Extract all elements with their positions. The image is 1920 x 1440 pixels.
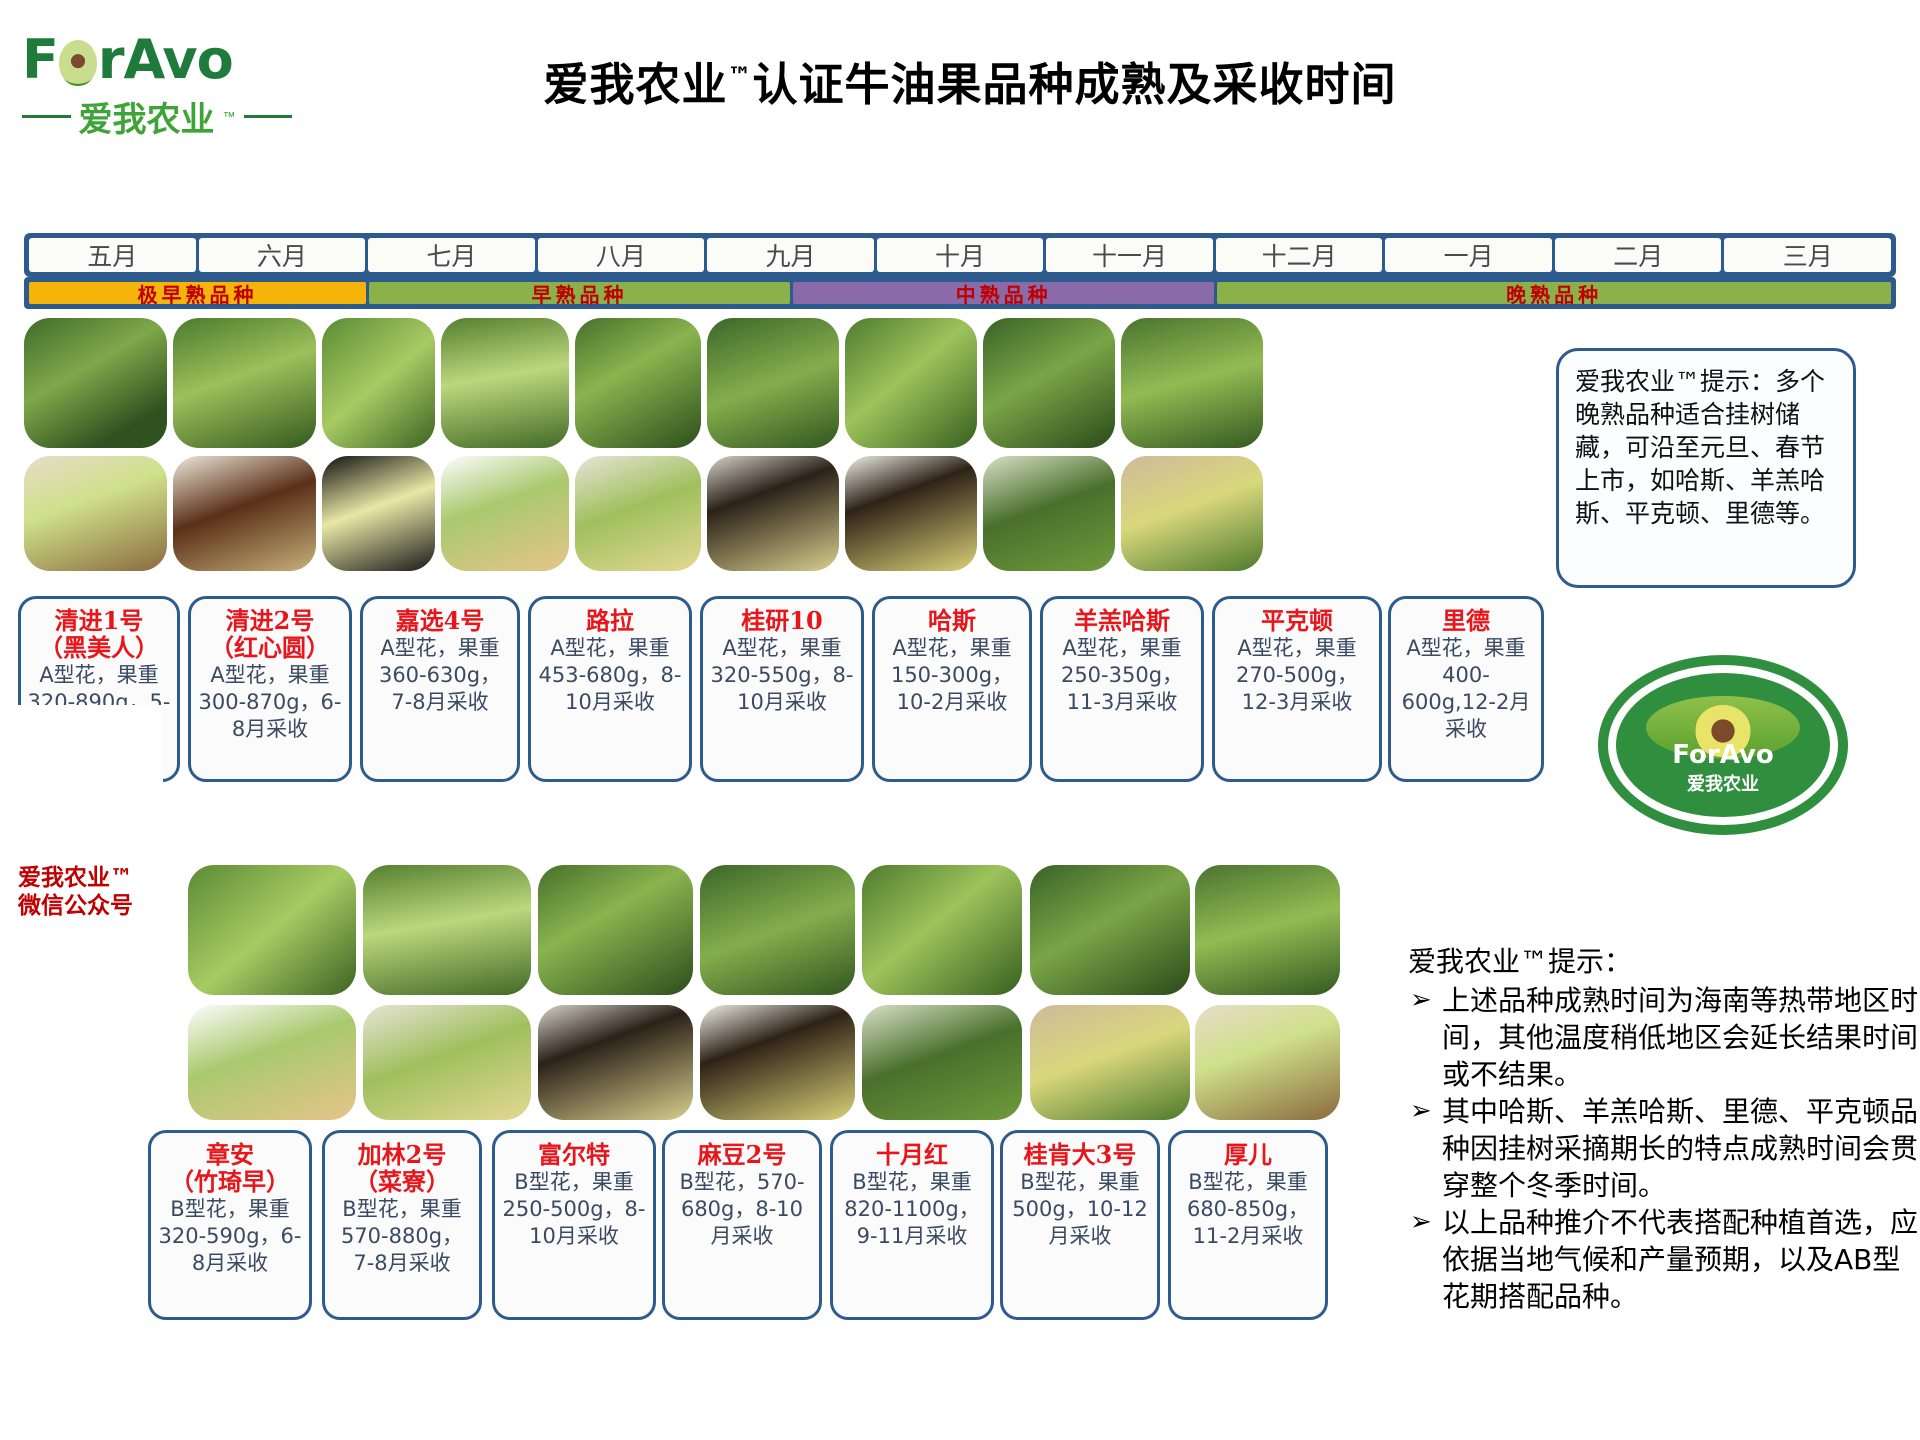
tip-callout-text: 爱我农业™提示：多个晚熟品种适合挂树储藏，可沿至元旦、春节上市，如哈斯、羊羔哈斯… bbox=[1575, 365, 1837, 530]
variety-a-card-5[interactable]: 桂研10A型花，果重320-550g，8-10月采收 bbox=[700, 596, 864, 782]
variety-alias: （菜寮） bbox=[331, 1168, 473, 1195]
variety-details: B型花，果重820-1100g，9-11月采收 bbox=[839, 1169, 985, 1250]
orchard-photo-3 bbox=[322, 318, 435, 448]
notes-title: 爱我农业™提示： bbox=[1408, 940, 1920, 980]
variety-details: B型花，果重500g，10-12月采收 bbox=[1009, 1169, 1151, 1250]
fruit-photo-b7 bbox=[1195, 1005, 1340, 1120]
variety-name: 桂研10 bbox=[709, 607, 855, 634]
variety-details: A型花，果重400-600g,12-2月采收 bbox=[1397, 635, 1535, 743]
orchard-photo-b4 bbox=[700, 865, 855, 995]
variety-details: B型花，570-680g，8-10月采收 bbox=[671, 1169, 813, 1250]
variety-details: B型花，果重320-590g，6-8月采收 bbox=[157, 1196, 303, 1277]
season-band-3: 中熟品种 bbox=[793, 282, 1214, 304]
arrow-bullet-icon: ➢ bbox=[1410, 1204, 1432, 1241]
orchard-photo-b6 bbox=[1030, 865, 1190, 995]
variety-name: 清进1号 bbox=[27, 607, 171, 634]
brand-name-cn: 爱我农业 bbox=[79, 92, 215, 141]
orchard-photo-4 bbox=[441, 318, 569, 448]
variety-b-card-6[interactable]: 桂肯大3号B型花，果重500g，10-12月采收 bbox=[1000, 1130, 1160, 1320]
variety-name: 厚儿 bbox=[1177, 1141, 1319, 1168]
page-title-rest: 认证牛油果品种成熟及采收时间 bbox=[753, 58, 1397, 111]
variety-a-card-2[interactable]: 清进2号（红心圆）A型花，果重300-870g，6-8月采收 bbox=[188, 596, 352, 782]
variety-name: 十月红 bbox=[839, 1141, 985, 1168]
brand-wordmark-rest: rAvo bbox=[98, 28, 233, 91]
wechat-qr-block: 爱我农业™ 微信公众号 bbox=[18, 705, 163, 920]
month-cell-7: 十一月 bbox=[1046, 238, 1213, 272]
page-title: 爱我农业™认证牛油果品种成熟及采收时间 bbox=[430, 48, 1510, 113]
brand-wordmark-f: F bbox=[22, 28, 58, 91]
month-cell-6: 十月 bbox=[877, 238, 1044, 272]
note-item-text: 以上品种推介不代表搭配种植首选，应依据当地气候和产量预期，以及AB型花期搭配品种… bbox=[1442, 1206, 1918, 1313]
variety-name: 嘉选4号 bbox=[369, 607, 511, 634]
qr-caption: 爱我农业™ 微信公众号 bbox=[18, 864, 163, 920]
variety-name: 路拉 bbox=[537, 607, 683, 634]
season-band-2: 早熟品种 bbox=[369, 282, 790, 304]
qr-code-icon[interactable] bbox=[18, 705, 163, 850]
orchard-photo-1 bbox=[24, 318, 167, 448]
variety-b-card-4[interactable]: 麻豆2号B型花，570-680g，8-10月采收 bbox=[662, 1130, 822, 1320]
note-item-text: 其中哈斯、羊羔哈斯、里德、平克顿品种因挂树采摘期长的特点成熟时间会贯穿整个冬季时… bbox=[1442, 1095, 1918, 1202]
variety-details: A型花，果重360-630g，7-8月采收 bbox=[369, 635, 511, 716]
variety-name: 章安 bbox=[157, 1141, 303, 1168]
orchard-photo-8 bbox=[983, 318, 1115, 448]
fruit-photo-b3 bbox=[538, 1005, 693, 1120]
fruit-photo-b1 bbox=[188, 1005, 356, 1120]
notes-panel: 爱我农业™提示： ➢上述品种成熟时间为海南等热带地区时间，其他温度稍低地区会延长… bbox=[1408, 940, 1920, 1315]
orchard-photo-b5 bbox=[862, 865, 1022, 995]
orchard-photo-2 bbox=[173, 318, 316, 448]
variety-a-card-4[interactable]: 路拉A型花，果重453-680g，8-10月采收 bbox=[528, 596, 692, 782]
fruit-photo-6 bbox=[707, 456, 839, 571]
orchard-photo-b2 bbox=[363, 865, 531, 995]
notes-list: ➢上述品种成熟时间为海南等热带地区时间，其他温度稍低地区会延长结果时间或不结果。… bbox=[1408, 982, 1920, 1315]
variety-details: A型花，果重300-870g，6-8月采收 bbox=[197, 662, 343, 743]
month-cell-2: 六月 bbox=[199, 238, 366, 272]
variety-a-card-3[interactable]: 嘉选4号A型花，果重360-630g，7-8月采收 bbox=[360, 596, 520, 782]
fruit-photo-1 bbox=[24, 456, 167, 571]
variety-details: A型花，果重320-550g，8-10月采收 bbox=[709, 635, 855, 716]
variety-a-card-8[interactable]: 平克顿A型花，果重270-500g，12-3月采收 bbox=[1212, 596, 1382, 782]
brand-subtitle: 爱我农业™ bbox=[22, 92, 292, 141]
fruit-photo-7 bbox=[845, 456, 977, 571]
arrow-bullet-icon: ➢ bbox=[1410, 982, 1432, 1019]
season-band-1: 极早熟品种 bbox=[29, 282, 366, 304]
note-item-text: 上述品种成熟时间为海南等热带地区时间，其他温度稍低地区会延长结果时间或不结果。 bbox=[1442, 984, 1918, 1091]
season-strip: 极早熟品种早熟品种中熟品种晚熟品种 bbox=[24, 277, 1896, 309]
seal-outer-ring: ForAvo 爱我农业 bbox=[1598, 655, 1848, 835]
variety-details: B型花，果重250-500g，8-10月采收 bbox=[501, 1169, 647, 1250]
month-cell-11: 三月 bbox=[1724, 238, 1891, 272]
month-strip: 五月六月七月八月九月十月十一月十二月一月二月三月 bbox=[24, 233, 1896, 277]
variety-name: 平克顿 bbox=[1221, 607, 1373, 634]
avocado-icon bbox=[59, 40, 97, 86]
orchard-photo-5 bbox=[575, 318, 701, 448]
month-cell-4: 八月 bbox=[538, 238, 705, 272]
season-band-4: 晚熟品种 bbox=[1217, 282, 1891, 304]
variety-details: B型花，果重680-850g，11-2月采收 bbox=[1177, 1169, 1319, 1250]
variety-b-card-5[interactable]: 十月红B型花，果重820-1100g，9-11月采收 bbox=[830, 1130, 994, 1320]
variety-a-card-7[interactable]: 羊羔哈斯A型花，果重250-350g，11-3月采收 bbox=[1040, 596, 1204, 782]
certification-seal: ForAvo 爱我农业 bbox=[1598, 655, 1848, 835]
trademark-symbol: ™ bbox=[223, 109, 236, 124]
variety-a-card-6[interactable]: 哈斯A型花，果重150-300g，10-2月采收 bbox=[872, 596, 1032, 782]
seal-core: ForAvo 爱我农业 bbox=[1616, 673, 1830, 817]
variety-b-card-1[interactable]: 章安（竹琦早）B型花，果重320-590g，6-8月采收 bbox=[148, 1130, 312, 1320]
variety-b-card-7[interactable]: 厚儿B型花，果重680-850g，11-2月采收 bbox=[1168, 1130, 1328, 1320]
arrow-bullet-icon: ➢ bbox=[1410, 1093, 1432, 1130]
orchard-photo-6 bbox=[707, 318, 839, 448]
variety-name: 富尔特 bbox=[501, 1141, 647, 1168]
variety-name: 桂肯大3号 bbox=[1009, 1141, 1151, 1168]
note-item-2: ➢其中哈斯、羊羔哈斯、里德、平克顿品种因挂树采摘期长的特点成熟时间会贯穿整个冬季… bbox=[1408, 1093, 1920, 1204]
orchard-photo-7 bbox=[845, 318, 977, 448]
variety-name: 加林2号 bbox=[331, 1141, 473, 1168]
fruit-photo-5 bbox=[575, 456, 701, 571]
brand-logo: FrAvo 爱我农业™ bbox=[22, 32, 292, 142]
page-title-tm: ™ bbox=[728, 62, 753, 90]
variety-details: A型花，果重150-300g，10-2月采收 bbox=[881, 635, 1023, 716]
variety-name: 哈斯 bbox=[881, 607, 1023, 634]
variety-details: B型花，果重570-880g，7-8月采收 bbox=[331, 1196, 473, 1277]
seal-name-cn: 爱我农业 bbox=[1687, 770, 1759, 796]
variety-details: A型花，果重453-680g，8-10月采收 bbox=[537, 635, 683, 716]
page-title-brand: 爱我农业 bbox=[543, 58, 727, 111]
divider-left bbox=[22, 115, 71, 118]
orchard-photo-b1 bbox=[188, 865, 356, 995]
note-item-1: ➢上述品种成熟时间为海南等热带地区时间，其他温度稍低地区会延长结果时间或不结果。 bbox=[1408, 982, 1920, 1093]
variety-alias: （红心圆） bbox=[197, 634, 343, 661]
month-cell-5: 九月 bbox=[707, 238, 874, 272]
month-cell-1: 五月 bbox=[29, 238, 196, 272]
fruit-photo-8 bbox=[983, 456, 1115, 571]
brand-wordmark: FrAvo bbox=[22, 32, 292, 88]
tip-callout: 爱我农业™提示：多个晚熟品种适合挂树储藏，可沿至元旦、春节上市，如哈斯、羊羔哈斯… bbox=[1556, 348, 1856, 588]
variety-b-card-2[interactable]: 加林2号（菜寮）B型花，果重570-880g，7-8月采收 bbox=[322, 1130, 482, 1320]
fruit-photo-9 bbox=[1121, 456, 1263, 571]
seal-wordmark: ForAvo bbox=[1672, 740, 1773, 770]
variety-a-card-9[interactable]: 里德A型花，果重400-600g,12-2月采收 bbox=[1388, 596, 1544, 782]
variety-name: 麻豆2号 bbox=[671, 1141, 813, 1168]
month-cell-9: 一月 bbox=[1385, 238, 1552, 272]
qr-caption-line1: 爱我农业™ bbox=[18, 864, 163, 892]
fruit-photo-b6 bbox=[1030, 1005, 1190, 1120]
month-cell-10: 二月 bbox=[1555, 238, 1722, 272]
orchard-photo-b7 bbox=[1195, 865, 1340, 995]
variety-alias: （黑美人） bbox=[27, 634, 171, 661]
fruit-photo-4 bbox=[441, 456, 569, 571]
variety-details: A型花，果重250-350g，11-3月采收 bbox=[1049, 635, 1195, 716]
divider-right bbox=[244, 115, 293, 118]
fruit-photo-b4 bbox=[700, 1005, 855, 1120]
qr-caption-line2: 微信公众号 bbox=[18, 892, 163, 920]
fruit-photo-2 bbox=[173, 456, 316, 571]
orchard-photo-9 bbox=[1121, 318, 1263, 448]
variety-name: 里德 bbox=[1397, 607, 1535, 634]
fruit-photo-b2 bbox=[363, 1005, 531, 1120]
note-item-3: ➢以上品种推介不代表搭配种植首选，应依据当地气候和产量预期，以及AB型花期搭配品… bbox=[1408, 1204, 1920, 1315]
variety-name: 清进2号 bbox=[197, 607, 343, 634]
variety-b-card-3[interactable]: 富尔特B型花，果重250-500g，8-10月采收 bbox=[492, 1130, 656, 1320]
fruit-photo-b5 bbox=[862, 1005, 1022, 1120]
variety-name: 羊羔哈斯 bbox=[1049, 607, 1195, 634]
month-cell-8: 十二月 bbox=[1216, 238, 1383, 272]
variety-alias: （竹琦早） bbox=[157, 1168, 303, 1195]
variety-details: A型花，果重270-500g，12-3月采收 bbox=[1221, 635, 1373, 716]
fruit-photo-3 bbox=[322, 456, 435, 571]
orchard-photo-b3 bbox=[538, 865, 693, 995]
month-cell-3: 七月 bbox=[368, 238, 535, 272]
